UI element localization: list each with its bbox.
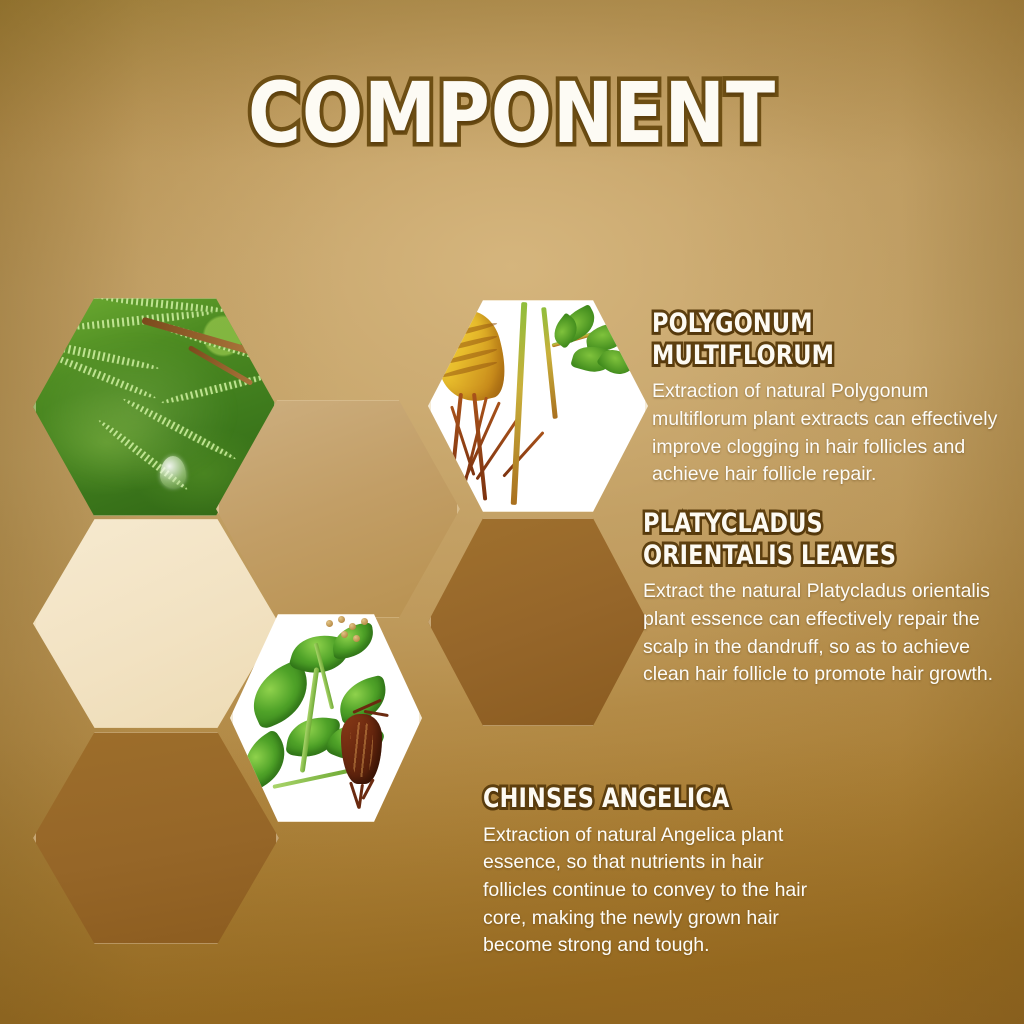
infographic-canvas: COMPONENT <box>0 0 1024 1024</box>
component-body-platycladus: Extract the natural Platycladus oriental… <box>643 578 1024 689</box>
hex-polygonum-root-photo <box>428 298 648 514</box>
hex-blank-brown-bottom <box>33 730 279 946</box>
component-heading-angelica: CHINSES ANGELICA <box>483 783 815 815</box>
component-heading-polygonum: POLYGONUM MULTIFLORUM <box>652 308 957 371</box>
component-block-angelica: CHINSES ANGELICA Extraction of natural A… <box>483 783 883 960</box>
component-body-polygonum: Extraction of natural Polygonum multiflo… <box>652 378 1020 489</box>
component-block-platycladus: PLATYCLADUS ORIENTALIS LEAVES Extract th… <box>643 508 1024 689</box>
component-heading-platycladus: PLATYCLADUS ORIENTALIS LEAVES <box>643 508 963 571</box>
page-title: COMPONENT <box>72 70 953 157</box>
component-body-angelica: Extraction of natural Angelica plant ess… <box>483 822 883 960</box>
polygonum-root-image <box>428 298 648 514</box>
component-block-polygonum: POLYGONUM MULTIFLORUM Extraction of natu… <box>652 308 1020 489</box>
hex-blank-brown-right <box>428 516 648 728</box>
